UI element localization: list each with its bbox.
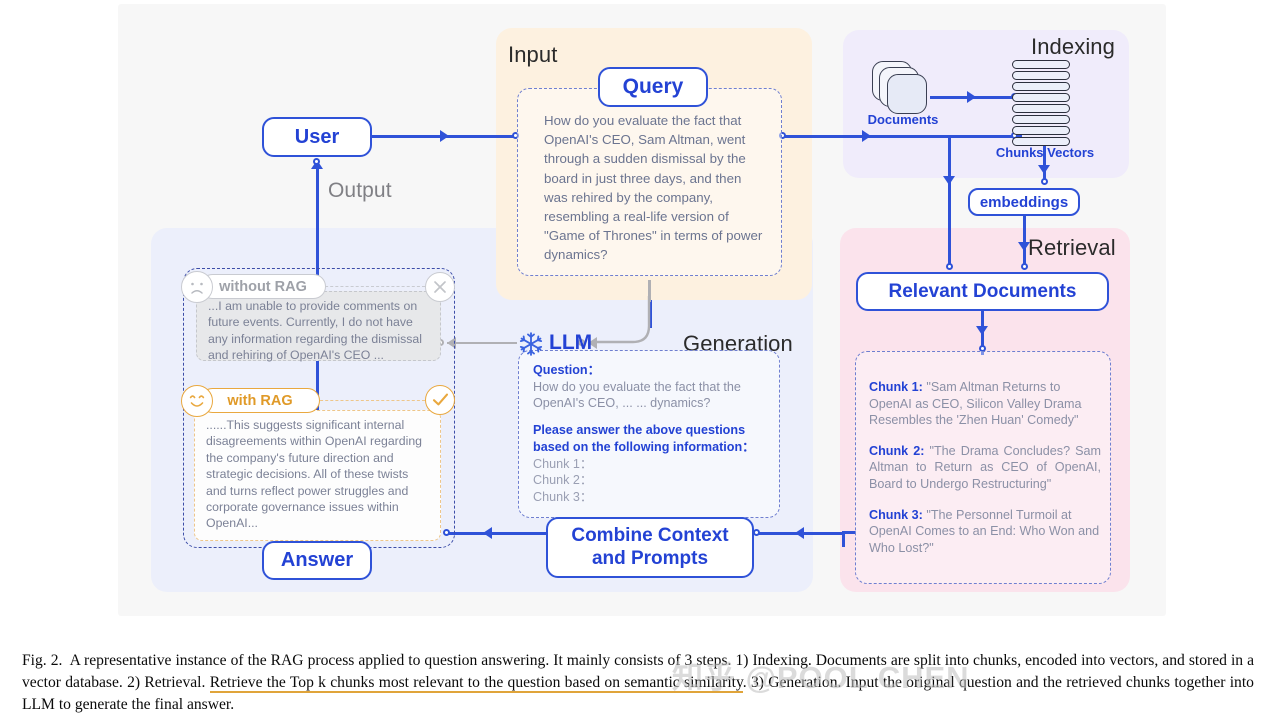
documents-icon xyxy=(872,61,932,116)
query-text-box: How do you evaluate the fact that OpenAI… xyxy=(517,88,782,276)
chunks-vectors-label: Chunks Vectors xyxy=(990,145,1100,160)
edge-query-down-grey xyxy=(648,280,651,302)
junction-reldocs-right xyxy=(1021,263,1028,270)
combine-line-1: Combine Context xyxy=(571,525,728,548)
figure-stage: Input Indexing Retrieval Generation Outp… xyxy=(0,0,1265,708)
prompt-chunk-3: Chunk 3： xyxy=(533,489,773,506)
edge-llm-to-norag xyxy=(447,342,517,344)
without-rag-divider xyxy=(320,286,425,287)
arrow-query-right xyxy=(862,130,871,142)
arrow-reldocs-to-chunks xyxy=(976,326,988,335)
chunks-vectors-icon xyxy=(1012,60,1070,146)
arrow-documents-to-chunks xyxy=(967,91,976,103)
junction-user-bottom xyxy=(313,158,320,165)
prompt-chunk-2: Chunk 2： xyxy=(533,472,773,489)
documents-label: Documents xyxy=(858,112,948,127)
arrow-to-combine-right xyxy=(795,527,804,539)
snowflake-icon xyxy=(518,331,544,357)
without-rag-answer-text: ...I am unable to provide comments on fu… xyxy=(208,298,430,364)
prompt-chunk-1: Chunk 1： xyxy=(533,456,773,473)
panel-title-input: Input xyxy=(508,42,557,68)
check-icon xyxy=(425,385,455,415)
with-rag-answer-text: ......This suggests significant internal… xyxy=(206,417,432,532)
smiley-face-icon xyxy=(181,385,213,417)
without-rag-badge[interactable]: without RAG xyxy=(200,274,326,299)
junction-embeddings-top xyxy=(1041,178,1048,185)
query-text: How do you evaluate the fact that OpenAI… xyxy=(544,111,768,265)
edge-query-to-index xyxy=(782,135,1022,138)
caption-underlined: Retrieve the Top k chunks most relevant … xyxy=(210,674,743,693)
chunk-3-label: Chunk 3: xyxy=(869,508,923,522)
prompt-instruction: Please answer the above questions based … xyxy=(533,422,773,456)
junction-reldocs-left xyxy=(946,263,953,270)
with-rag-badge[interactable]: with RAG xyxy=(200,388,320,413)
arrow-combine-to-answer xyxy=(483,527,492,539)
panel-title-retrieval: Retrieval xyxy=(1028,235,1116,261)
node-combine-context-and-prompts[interactable]: Combine Context and Prompts xyxy=(546,517,754,578)
arrow-chunks-to-embeddings xyxy=(1038,165,1050,174)
node-embeddings[interactable]: embeddings xyxy=(968,188,1080,216)
prompt-question-text: How do you evaluate the fact that the Op… xyxy=(533,380,741,411)
node-relevant-documents[interactable]: Relevant Documents xyxy=(856,272,1109,311)
generation-prompt-box: Question： How do you evaluate the fact t… xyxy=(518,350,780,518)
arrow-user-to-query xyxy=(440,130,449,142)
panel-title-indexing: Indexing xyxy=(1031,34,1115,60)
sad-face-icon xyxy=(181,271,213,303)
arrow-query-down xyxy=(943,176,955,185)
llm-label: LLM xyxy=(549,331,592,355)
edge-embeddings-down xyxy=(1023,214,1026,268)
retrieved-chunk-2: Chunk 2: "The Drama Concludes? Sam Altma… xyxy=(869,443,1101,493)
edge-chunks-left xyxy=(842,531,856,534)
retrieved-chunk-1: Chunk 1: "Sam Altman Returns to OpenAI a… xyxy=(869,379,1101,429)
close-icon xyxy=(425,272,455,302)
with-rag-answer-box: ......This suggests significant internal… xyxy=(194,410,441,541)
node-answer[interactable]: Answer xyxy=(262,541,372,580)
retrieved-chunk-3: Chunk 3: "The Personnel Turmoil at OpenA… xyxy=(869,507,1101,557)
node-query[interactable]: Query xyxy=(598,67,708,107)
junction-combine-right xyxy=(753,529,760,536)
without-rag-answer-box: ...I am unable to provide comments on fu… xyxy=(196,291,441,361)
retrieved-chunks-box: Chunk 1: "Sam Altman Returns to OpenAI a… xyxy=(855,351,1111,584)
with-rag-divider xyxy=(315,400,425,401)
edge-query-to-llm-curve xyxy=(596,296,666,348)
node-user[interactable]: User xyxy=(262,117,372,157)
edge-query-down xyxy=(948,135,951,267)
figure-caption: Fig. 2. A representative instance of the… xyxy=(22,650,1254,716)
caption-prefix: Fig. 2. xyxy=(22,652,62,669)
arrow-embeddings-down xyxy=(1018,242,1030,251)
edge-combine-to-answer xyxy=(446,532,546,535)
chunk-1-label: Chunk 1: xyxy=(869,380,923,394)
prompt-question-label: Question： xyxy=(533,363,600,377)
chunk-2-label: Chunk 2: xyxy=(869,444,924,458)
label-output: Output xyxy=(328,179,392,203)
combine-line-2: and Prompts xyxy=(571,548,728,571)
